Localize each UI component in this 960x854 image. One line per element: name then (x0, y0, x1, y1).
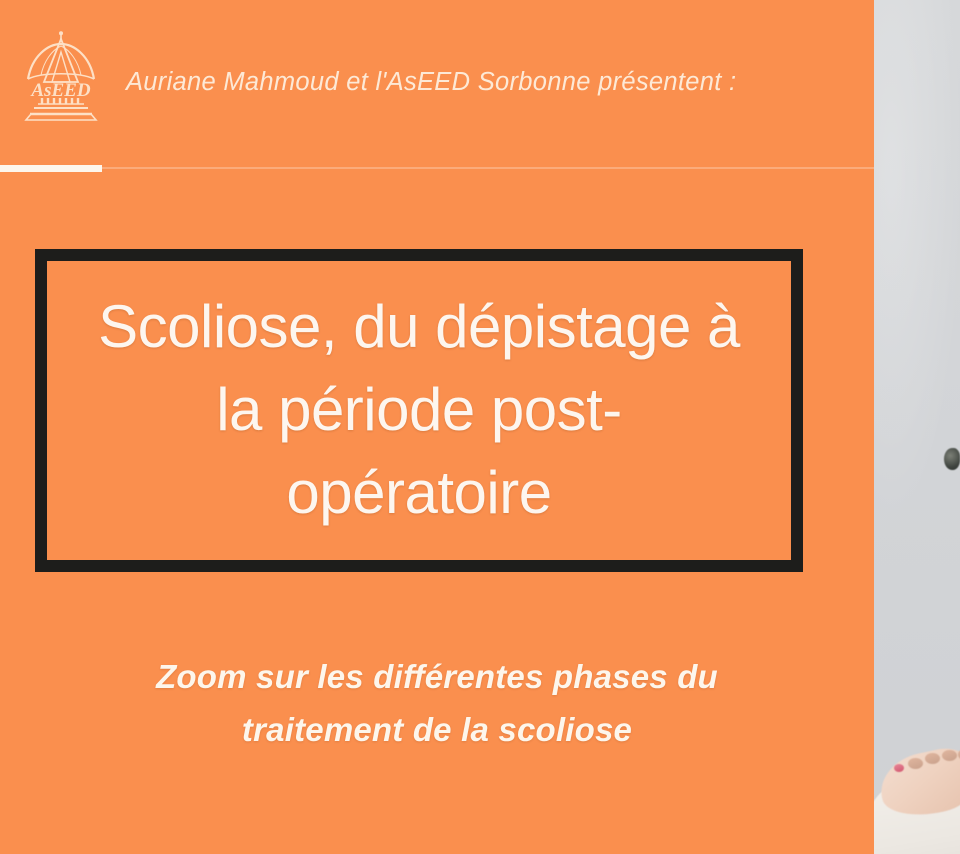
page-title-line-1: Scoliose, du dépistage à (59, 286, 779, 369)
page-title: Scoliose, du dépistage à la période post… (47, 286, 791, 534)
presenter-line: Auriane Mahmoud et l'AsEED Sorbonne prés… (126, 68, 736, 97)
photo-wall-gradient (874, 0, 960, 854)
header-hairline-divider (0, 167, 874, 169)
presentation-slide: AsEED Auriane Mahmoud et l'AsEED Sorbonn… (0, 0, 960, 854)
subtitle-line-1: Zoom sur les différentes phases du (55, 650, 819, 703)
orange-panel: AsEED Auriane Mahmoud et l'AsEED Sorbonn… (0, 0, 874, 854)
aseed-dome-logo-icon: AsEED (22, 30, 100, 125)
photo-toe (908, 758, 923, 769)
title-box: Scoliose, du dépistage à la période post… (35, 249, 803, 572)
aseed-logo-wordmark: AsEED (30, 80, 90, 101)
subtitle-line-2: traitement de la scoliose (55, 703, 819, 756)
page-title-line-2: la période post- (59, 369, 779, 452)
photo-dark-object (944, 448, 960, 470)
subtitle: Zoom sur les différentes phases du trait… (55, 650, 819, 757)
slide-header: AsEED Auriane Mahmoud et l'AsEED Sorbonn… (0, 0, 874, 168)
photo-toe (942, 750, 957, 761)
page-title-line-3: opératoire (59, 452, 779, 535)
photo-toe (894, 764, 904, 772)
photo-toe (925, 753, 940, 764)
side-photo (874, 0, 960, 854)
header-accent-rule (0, 165, 102, 172)
